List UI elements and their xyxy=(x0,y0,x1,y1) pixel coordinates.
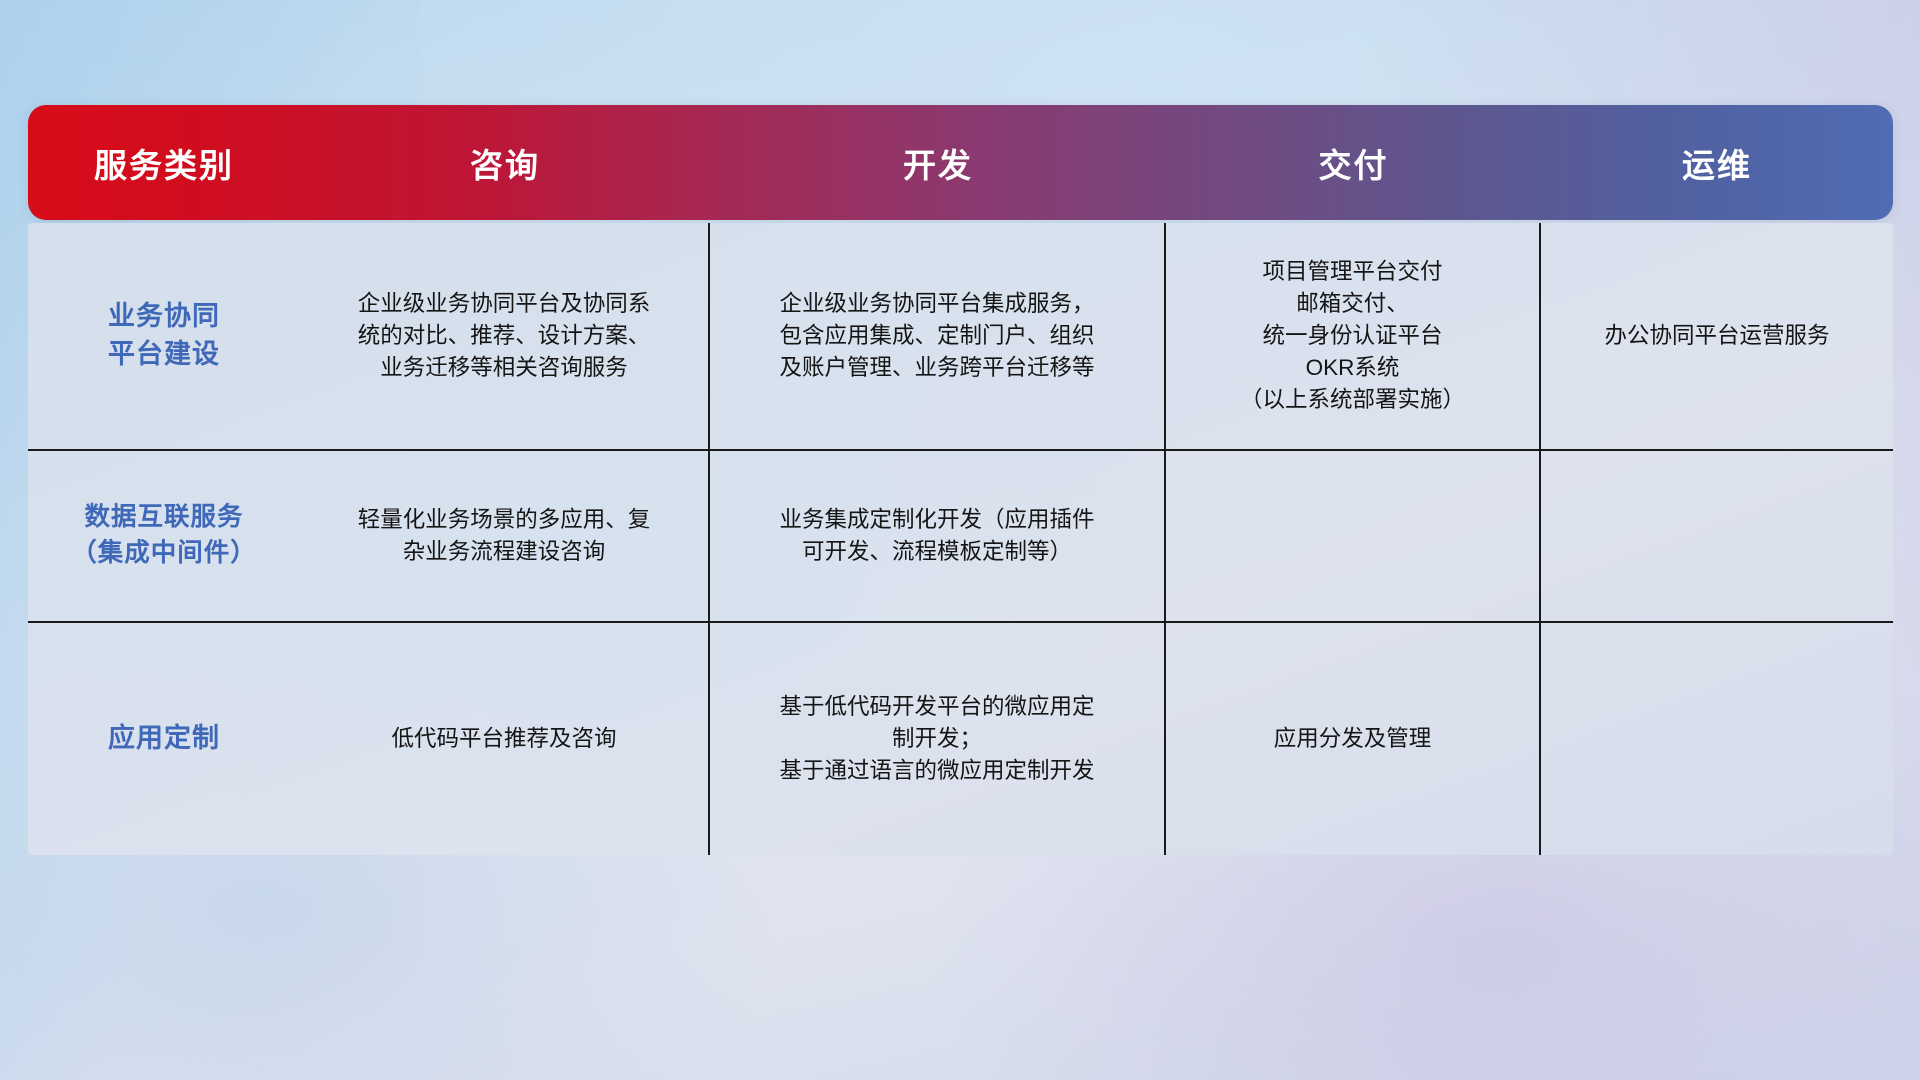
header-cell-consulting: 咨询 xyxy=(300,105,710,220)
cell-operations-row-1: 办公协同平台运营服务 xyxy=(1541,223,1893,449)
row-label-data-interconnection: 数据互联服务 （集成中间件） xyxy=(28,451,300,621)
row-label-application-customization: 应用定制 xyxy=(28,623,300,855)
cell-development-row-2: 业务集成定制化开发（应用插件 可开发、流程模板定制等） xyxy=(710,451,1166,621)
cell-delivery-row-1: 项目管理平台交付 邮箱交付、 统一身份认证平台 OKR系统 （以上系统部署实施） xyxy=(1166,223,1541,449)
cell-development-row-3: 基于低代码开发平台的微应用定 制开发； 基于通过语言的微应用定制开发 xyxy=(710,623,1166,855)
table-body: 业务协同 平台建设 企业级业务协同平台及协同系 统的对比、推荐、设计方案、 业务… xyxy=(28,223,1893,855)
header-cell-development: 开发 xyxy=(710,105,1166,220)
cell-delivery-row-2 xyxy=(1166,451,1541,621)
cell-operations-row-3 xyxy=(1541,623,1893,855)
cell-consulting-row-2: 轻量化业务场景的多应用、复 杂业务流程建设咨询 xyxy=(300,451,710,621)
header-cell-delivery: 交付 xyxy=(1166,105,1541,220)
cell-operations-row-2 xyxy=(1541,451,1893,621)
table-row: 应用定制 低代码平台推荐及咨询 基于低代码开发平台的微应用定 制开发； 基于通过… xyxy=(28,623,1893,855)
cell-development-row-1: 企业级业务协同平台集成服务， 包含应用集成、定制门户、组织 及账户管理、业务跨平… xyxy=(710,223,1166,449)
table-row: 业务协同 平台建设 企业级业务协同平台及协同系 统的对比、推荐、设计方案、 业务… xyxy=(28,223,1893,451)
cell-consulting-row-1: 企业级业务协同平台及协同系 统的对比、推荐、设计方案、 业务迁移等相关咨询服务 xyxy=(300,223,710,449)
service-category-table: 服务类别 咨询 开发 交付 运维 业务协同 平台建设 企业级业务协同平台及协同系… xyxy=(28,105,1893,855)
table-row: 数据互联服务 （集成中间件） 轻量化业务场景的多应用、复 杂业务流程建设咨询 业… xyxy=(28,451,1893,623)
cell-delivery-row-3: 应用分发及管理 xyxy=(1166,623,1541,855)
header-cell-service-category: 服务类别 xyxy=(28,105,300,220)
header-cell-operations: 运维 xyxy=(1541,105,1893,220)
row-label-business-collaboration: 业务协同 平台建设 xyxy=(28,223,300,449)
table-header-row: 服务类别 咨询 开发 交付 运维 xyxy=(28,105,1893,220)
cell-consulting-row-3: 低代码平台推荐及咨询 xyxy=(300,623,710,855)
